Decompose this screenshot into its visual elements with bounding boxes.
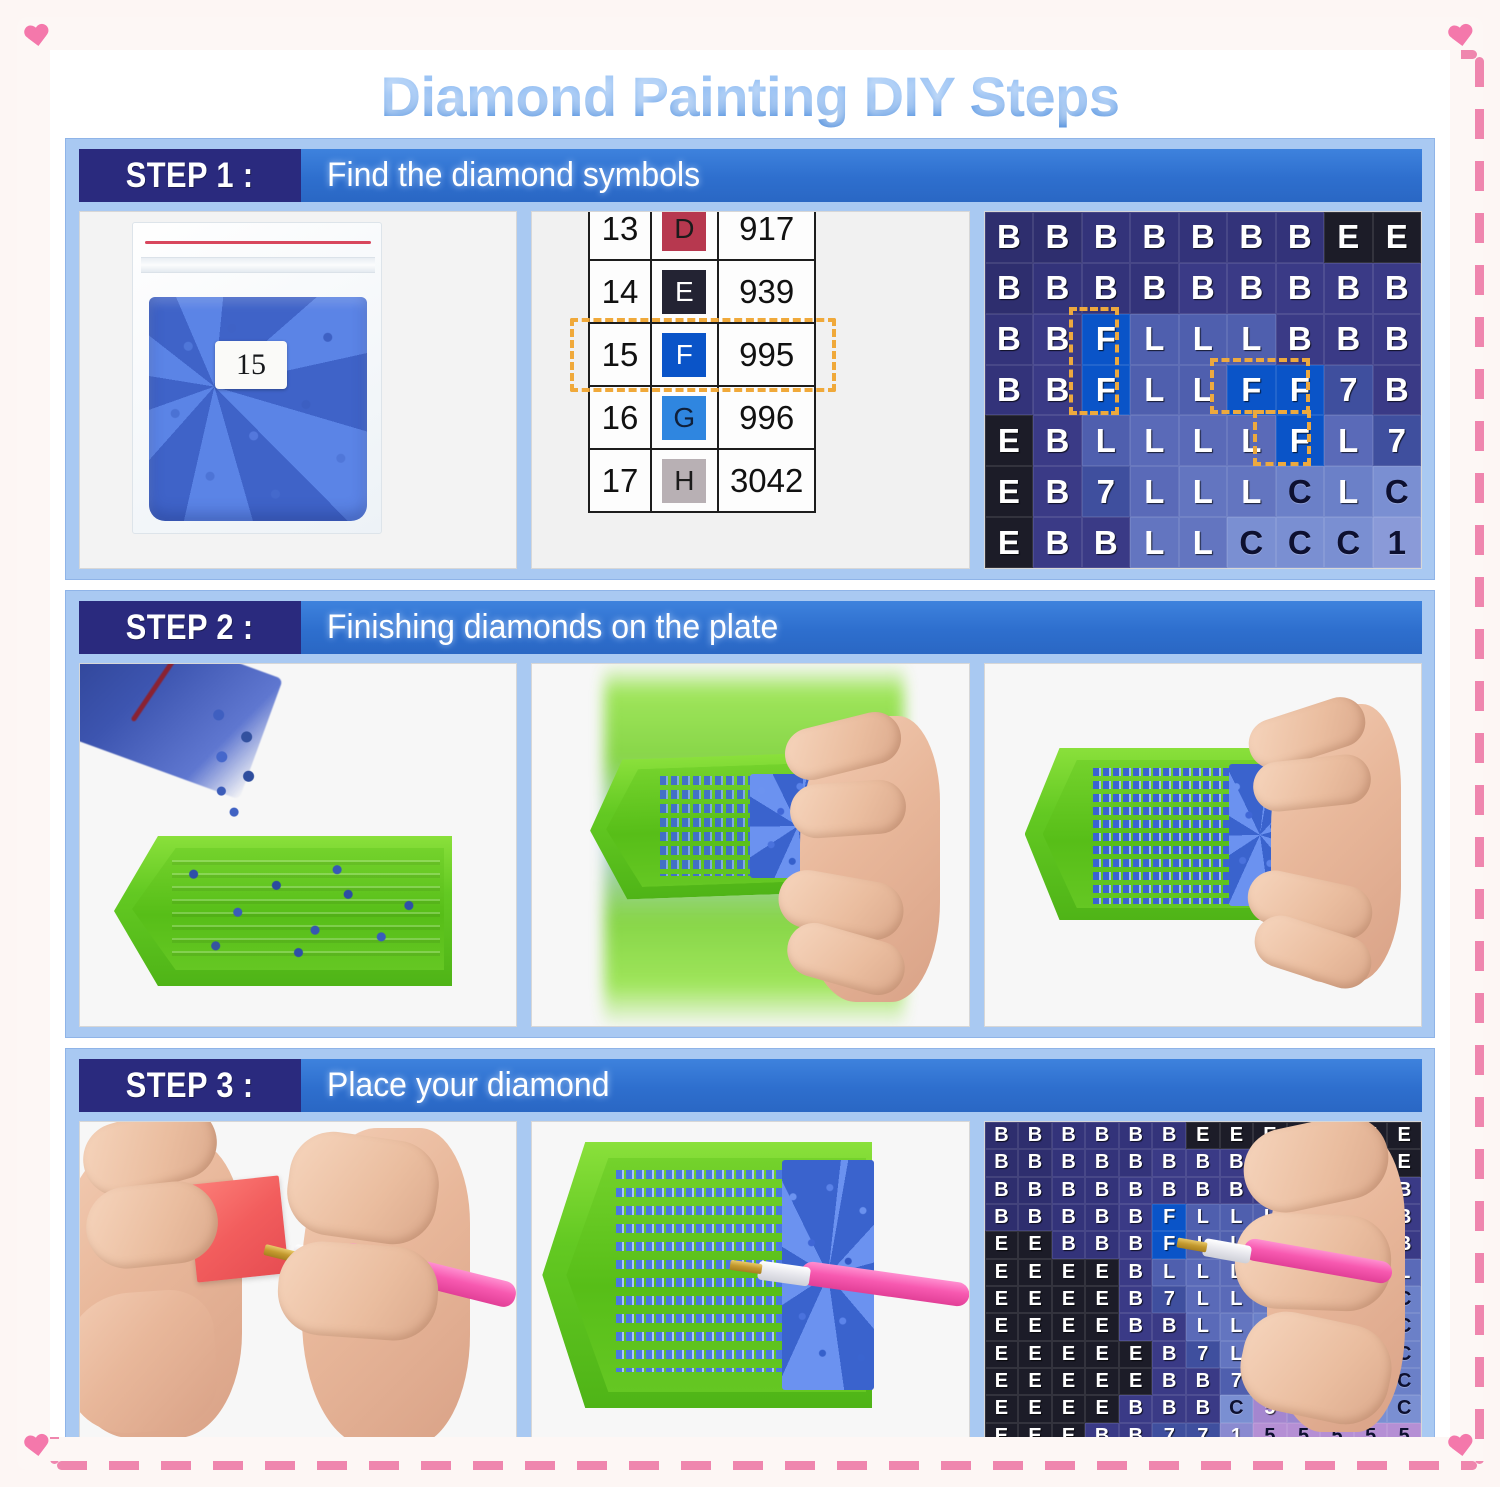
grid-cell: B bbox=[985, 263, 1033, 314]
grid-cell: B bbox=[1082, 212, 1130, 263]
grid-cell: B bbox=[1276, 263, 1324, 314]
step-1-title: Find the diamond symbols bbox=[327, 156, 700, 195]
grid-cell: E bbox=[985, 466, 1033, 517]
grid-cell: B bbox=[1152, 1122, 1186, 1149]
grid-cell: 7 bbox=[1152, 1423, 1186, 1437]
grid-cell: B bbox=[985, 314, 1033, 365]
grid-cell: B bbox=[1186, 1177, 1220, 1204]
grid-cell: B bbox=[1119, 1286, 1153, 1313]
grid-cell: E bbox=[1220, 1122, 1254, 1149]
grid-cell: B bbox=[1052, 1149, 1086, 1176]
grid-cell: F bbox=[1082, 314, 1130, 365]
grid-cell: B bbox=[1052, 1122, 1086, 1149]
legend-color-code: 3042 bbox=[718, 449, 815, 512]
grid-cell: B bbox=[1082, 517, 1130, 568]
step-3-photo-row: BBBBBBEEEEEEEBBBBBBBBBEEBEBBBBBBBBBBBBBB… bbox=[79, 1121, 1422, 1437]
grid-cell: E bbox=[985, 415, 1033, 466]
grid-cell: B bbox=[1119, 1149, 1153, 1176]
place-bead-on-canvas-photo: BBBBBBEEEEEEEBBBBBBBBBEEBEBBBBBBBBBBBBBB… bbox=[984, 1121, 1422, 1437]
grid-cell: E bbox=[1018, 1423, 1052, 1437]
grid-cell: B bbox=[1085, 1149, 1119, 1176]
grid-cell: L bbox=[1130, 314, 1178, 365]
grid-cell: C bbox=[1220, 1395, 1254, 1422]
grid-cell: L bbox=[1227, 466, 1275, 517]
grid-cell: 1 bbox=[1220, 1423, 1254, 1437]
legend-index: 14 bbox=[589, 260, 650, 323]
grid-cell: B bbox=[1152, 1313, 1186, 1340]
aligned-bead-rows bbox=[1093, 768, 1231, 904]
grid-cell: L bbox=[1324, 466, 1372, 517]
grid-cell: E bbox=[1373, 212, 1421, 263]
step-3-header: STEP 3 : Place your diamond bbox=[79, 1059, 1422, 1112]
grid-cell: B bbox=[1033, 466, 1081, 517]
grid-cell: B bbox=[985, 1204, 1019, 1231]
grid-cell: E bbox=[1018, 1313, 1052, 1340]
aligned-beads-tray-photo bbox=[984, 663, 1422, 1027]
grid-cell: E bbox=[1018, 1259, 1052, 1286]
grid-cell: 5 bbox=[1387, 1423, 1421, 1437]
grid-cell: B bbox=[1227, 263, 1275, 314]
grid-cell: E bbox=[1018, 1368, 1052, 1395]
grid-cell: B bbox=[1152, 1395, 1186, 1422]
step-1-tag: STEP 1 : bbox=[79, 149, 301, 202]
grid-cell: L bbox=[1130, 365, 1178, 416]
grid-cell: B bbox=[1085, 1231, 1119, 1258]
legend-index: 16 bbox=[589, 386, 650, 449]
grid-cell: L bbox=[1179, 415, 1227, 466]
grid-cell: L bbox=[1130, 415, 1178, 466]
bag-zip-lock bbox=[141, 257, 375, 273]
grid-cell: E bbox=[1085, 1341, 1119, 1368]
dashed-border-right bbox=[1475, 57, 1484, 1464]
grid-cell: B bbox=[1033, 415, 1081, 466]
grid-cell: B bbox=[1033, 517, 1081, 568]
photo-backdrop bbox=[80, 664, 516, 1026]
grid-cell: 7 bbox=[1324, 365, 1372, 416]
grid-cell: B bbox=[1324, 263, 1372, 314]
grid-cell: 7 bbox=[1152, 1286, 1186, 1313]
grid-cell: L bbox=[1130, 466, 1178, 517]
legend-row: 17H3042 bbox=[589, 449, 815, 512]
grid-cell: B bbox=[1373, 314, 1421, 365]
grid-cell: L bbox=[1227, 314, 1275, 365]
symbol-legend-table-photo: 13D91714E93915F99516G99617H3042 bbox=[531, 211, 969, 569]
bag-seal-strip bbox=[130, 663, 188, 722]
grid-cell: L bbox=[1179, 517, 1227, 568]
grid-cell: E bbox=[985, 1286, 1019, 1313]
legend-index: 13 bbox=[589, 211, 650, 260]
grid-cell: L bbox=[1179, 314, 1227, 365]
grid-cell: E bbox=[985, 1423, 1019, 1437]
grid-cell: B bbox=[1033, 212, 1081, 263]
grid-cell: B bbox=[1186, 1149, 1220, 1176]
grid-cell: B bbox=[1119, 1259, 1153, 1286]
grid-cell: L bbox=[1082, 415, 1130, 466]
step-2-tag-label: STEP 2 : bbox=[126, 608, 254, 648]
grid-cell: B bbox=[1085, 1177, 1119, 1204]
grid-cell: E bbox=[985, 517, 1033, 568]
symbol-chip: E bbox=[662, 270, 706, 314]
grid-cell: B bbox=[1152, 1341, 1186, 1368]
grid-cell: B bbox=[1119, 1204, 1153, 1231]
grid-cell: B bbox=[1152, 1177, 1186, 1204]
photo-backdrop bbox=[985, 664, 1421, 1026]
grid-cell: 7 bbox=[1373, 415, 1421, 466]
step-3-tag-label: STEP 3 : bbox=[126, 1066, 254, 1106]
grid-cell: C bbox=[1276, 517, 1324, 568]
canvas-grid-backdrop: BBBBBBEEEEEEEBBBBBBBBBEEBEBBBBBBBBBBBBBB… bbox=[985, 1122, 1421, 1437]
grid-cell: L bbox=[1130, 517, 1178, 568]
pen-wax-dip-photo bbox=[79, 1121, 517, 1437]
dashed-border-bottom bbox=[57, 1461, 1477, 1470]
legend-row: 15F995 bbox=[589, 323, 815, 386]
grid-cell: E bbox=[1085, 1313, 1119, 1340]
pen-pickup-bead-photo bbox=[531, 1121, 969, 1437]
finger bbox=[789, 778, 908, 840]
grid-cell: F bbox=[1152, 1204, 1186, 1231]
symbol-chip: G bbox=[662, 396, 706, 440]
grid-cell: F bbox=[1276, 365, 1324, 416]
legend-symbol-cell: H bbox=[651, 449, 718, 512]
canvas-grid-backdrop: BBBBBBBEEBBBBBBBBBBBFLLLBBBBBFLLFF7BEBLL… bbox=[985, 212, 1421, 568]
grid-cell: B bbox=[1018, 1149, 1052, 1176]
legend-color-code: 996 bbox=[718, 386, 815, 449]
step-panel-1: STEP 1 : Find the diamond symbols 15 bbox=[65, 138, 1435, 580]
grid-cell: L bbox=[1179, 466, 1227, 517]
grid-cell: L bbox=[1186, 1204, 1220, 1231]
step-panel-2: STEP 2 : Finishing diamonds on the plate bbox=[65, 590, 1435, 1038]
grid-cell: E bbox=[1018, 1286, 1052, 1313]
legend-row: 14E939 bbox=[589, 260, 815, 323]
legend-symbol-cell: D bbox=[651, 211, 718, 260]
step-1-photo-row: 15 13D91714E93915F99516G99617H3042 BBBBB… bbox=[79, 211, 1422, 569]
grid-cell: E bbox=[1018, 1231, 1052, 1258]
grid-cell: B bbox=[1085, 1423, 1119, 1437]
grid-cell: E bbox=[1052, 1423, 1086, 1437]
legend-color-code: 939 bbox=[718, 260, 815, 323]
photo-backdrop bbox=[532, 1122, 968, 1437]
grid-cell: B bbox=[1085, 1204, 1119, 1231]
grid-cell: B bbox=[1130, 263, 1178, 314]
bag-seal-strip bbox=[145, 241, 371, 244]
pour-beads-into-tray-photo bbox=[79, 663, 517, 1027]
grid-cell: B bbox=[1085, 1122, 1119, 1149]
grid-cell: E bbox=[1324, 212, 1372, 263]
grid-cell: E bbox=[1085, 1259, 1119, 1286]
heart-icon-top-right bbox=[1446, 22, 1475, 49]
grid-cell: B bbox=[1033, 365, 1081, 416]
heart-icon-top-left bbox=[22, 22, 51, 49]
grid-cell: L bbox=[1227, 415, 1275, 466]
grid-cell: F bbox=[1082, 365, 1130, 416]
grid-cell: E bbox=[1119, 1341, 1153, 1368]
legend-index: 15 bbox=[589, 323, 650, 386]
grid-cell: L bbox=[1186, 1313, 1220, 1340]
grid-cell: L bbox=[1324, 415, 1372, 466]
grid-cell: B bbox=[1152, 1368, 1186, 1395]
grid-cell: 1 bbox=[1373, 517, 1421, 568]
grid-cell: E bbox=[1085, 1395, 1119, 1422]
grid-cell: B bbox=[1052, 1231, 1086, 1258]
step-panel-3: STEP 3 : Place your diamond bbox=[65, 1048, 1435, 1437]
symbol-chip: H bbox=[662, 459, 706, 503]
grid-cell: B bbox=[1373, 365, 1421, 416]
grid-cell: B bbox=[1082, 263, 1130, 314]
grid-cell: B bbox=[1033, 314, 1081, 365]
grid-cell: B bbox=[985, 1177, 1019, 1204]
grid-cell: E bbox=[985, 1259, 1019, 1286]
heart-icon-bottom-left bbox=[22, 1432, 51, 1459]
heart-icon-bottom-right bbox=[1446, 1432, 1475, 1459]
grid-cell: 5 bbox=[1253, 1423, 1287, 1437]
grid-cell: B bbox=[1276, 212, 1324, 263]
grid-cell: F bbox=[1227, 365, 1275, 416]
step-2-title: Finishing diamonds on the plate bbox=[327, 608, 778, 647]
grid-cell: E bbox=[1387, 1122, 1421, 1149]
grid-cell: E bbox=[1052, 1341, 1086, 1368]
grid-cell: B bbox=[1119, 1423, 1153, 1437]
page-title-bar: Diamond Painting DIY Steps bbox=[50, 52, 1450, 140]
grid-cell: B bbox=[1119, 1395, 1153, 1422]
grid-cell: B bbox=[1119, 1313, 1153, 1340]
symbol-chip: F bbox=[662, 333, 706, 377]
legend-symbol-cell: G bbox=[651, 386, 718, 449]
grid-cell: B bbox=[1227, 212, 1275, 263]
blue-diamond-beads bbox=[149, 297, 367, 521]
zip-bag: 15 bbox=[132, 222, 382, 534]
hand bbox=[79, 1287, 221, 1437]
grid-cell: E bbox=[1085, 1286, 1119, 1313]
grid-cell: E bbox=[1018, 1395, 1052, 1422]
photo-backdrop bbox=[80, 1122, 516, 1437]
grid-cell: E bbox=[985, 1368, 1019, 1395]
grid-cell: B bbox=[1186, 1395, 1220, 1422]
grid-cell: B bbox=[1033, 263, 1081, 314]
symbol-canvas-grid-photo: BBBBBBBEEBBBBBBBBBBBFLLLBBBBBFLLFF7BEBLL… bbox=[984, 211, 1422, 569]
grid-cell: E bbox=[1052, 1259, 1086, 1286]
grid-cell: B bbox=[985, 365, 1033, 416]
grid-cell: B bbox=[1119, 1231, 1153, 1258]
grid-cell: B bbox=[1018, 1122, 1052, 1149]
step-2-tag: STEP 2 : bbox=[79, 601, 301, 654]
grid-cell: C bbox=[1324, 517, 1372, 568]
grid-cell: E bbox=[1052, 1313, 1086, 1340]
step-3-tag: STEP 3 : bbox=[79, 1059, 301, 1112]
grid-cell: B bbox=[1052, 1177, 1086, 1204]
grid-cell: B bbox=[1119, 1177, 1153, 1204]
grid-cell: E bbox=[1052, 1286, 1086, 1313]
aligning-bead-rows bbox=[660, 776, 754, 876]
step-3-title: Place your diamond bbox=[327, 1066, 609, 1105]
grid-cell: E bbox=[985, 1341, 1019, 1368]
grid-cell: E bbox=[1018, 1341, 1052, 1368]
grid-cell: L bbox=[1152, 1259, 1186, 1286]
legend-color-code: 995 bbox=[718, 323, 815, 386]
grid-cell: B bbox=[1373, 263, 1421, 314]
step-2-header: STEP 2 : Finishing diamonds on the plate bbox=[79, 601, 1422, 654]
legend-row: 16G996 bbox=[589, 386, 815, 449]
symbol-chip: D bbox=[662, 211, 706, 251]
grid-cell: B bbox=[1018, 1204, 1052, 1231]
grid-cell: B bbox=[1179, 212, 1227, 263]
grid-cell: B bbox=[1130, 212, 1178, 263]
finger bbox=[275, 1239, 441, 1344]
grid-cell: C bbox=[1373, 466, 1421, 517]
grid-cell: B bbox=[1018, 1177, 1052, 1204]
grid-cell: E bbox=[1052, 1395, 1086, 1422]
shake-tray-photo bbox=[531, 663, 969, 1027]
grid-cell: B bbox=[1179, 263, 1227, 314]
legend-color-code: 917 bbox=[718, 211, 815, 260]
grid-cell: B bbox=[1119, 1122, 1153, 1149]
grid-cell: L bbox=[1179, 365, 1227, 416]
content-canvas: Diamond Painting DIY Steps STEP 1 : Find… bbox=[50, 50, 1450, 1437]
legend-row: 13D917 bbox=[589, 211, 815, 260]
step-1-tag-label: STEP 1 : bbox=[126, 156, 254, 196]
grid-cell: 7 bbox=[1186, 1341, 1220, 1368]
grid-cell: B bbox=[985, 1149, 1019, 1176]
grid-cell: E bbox=[985, 1313, 1019, 1340]
grid-cell: E bbox=[1119, 1368, 1153, 1395]
grid-cell: L bbox=[1186, 1286, 1220, 1313]
grid-cell: 7 bbox=[1082, 466, 1130, 517]
grid-cell: C bbox=[1227, 517, 1275, 568]
grid-cell: E bbox=[1085, 1368, 1119, 1395]
infographic-page: Diamond Painting DIY Steps STEP 1 : Find… bbox=[0, 0, 1500, 1487]
step-2-photo-row bbox=[79, 663, 1422, 1027]
grid-cell: C bbox=[1387, 1395, 1421, 1422]
bead-bag-photo: 15 bbox=[79, 211, 517, 569]
grid-cell: E bbox=[1052, 1368, 1086, 1395]
grid-cell: B bbox=[1324, 314, 1372, 365]
bag-number-label: 15 bbox=[215, 341, 287, 389]
grid-cell: B bbox=[1052, 1204, 1086, 1231]
grid-cell: E bbox=[1186, 1122, 1220, 1149]
legend-index: 17 bbox=[589, 449, 650, 512]
legend-symbol-cell: E bbox=[651, 260, 718, 323]
symbol-grid-step1: BBBBBBBEEBBBBBBBBBBBFLLLBBBBBFLLFF7BEBLL… bbox=[985, 212, 1421, 568]
step-1-header: STEP 1 : Find the diamond symbols bbox=[79, 149, 1422, 202]
grid-cell: B bbox=[1186, 1368, 1220, 1395]
grid-cell: L bbox=[1186, 1259, 1220, 1286]
grid-cell: B bbox=[1276, 314, 1324, 365]
grid-cell: 7 bbox=[1186, 1423, 1220, 1437]
grid-cell: E bbox=[985, 1231, 1019, 1258]
grid-cell: B bbox=[985, 1122, 1019, 1149]
symbol-legend-table: 13D91714E93915F99516G99617H3042 bbox=[588, 211, 816, 513]
grid-cell: C bbox=[1276, 466, 1324, 517]
grid-cell: B bbox=[1152, 1149, 1186, 1176]
photo-backdrop bbox=[532, 664, 968, 1026]
grid-cell: E bbox=[985, 1395, 1019, 1422]
page-title: Diamond Painting DIY Steps bbox=[381, 64, 1120, 129]
legend-symbol-cell: F bbox=[651, 323, 718, 386]
scattered-beads bbox=[166, 854, 442, 966]
grid-cell: B bbox=[985, 212, 1033, 263]
grid-cell: F bbox=[1276, 415, 1324, 466]
